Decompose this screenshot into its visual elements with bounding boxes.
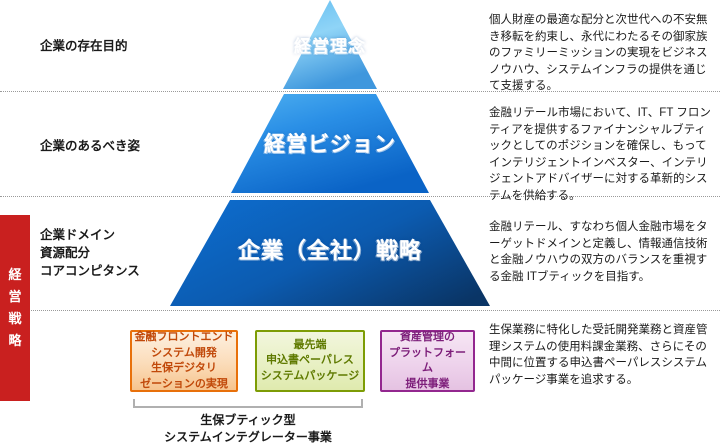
pyramid-tier-philosophy: 経営理念 (165, 0, 495, 89)
pyramid-tier-corporate-strategy: 企業（全社）戦略 (165, 200, 495, 306)
description-vision: 金融リテール市場において、IT、FT フロンティアを提供するファイナンシャルブテ… (489, 105, 713, 205)
vertical-band-char-1: 経 (8, 264, 21, 286)
business-box-financial-frontend[interactable]: 金融フロントエンド システム開発 生保デジタリ ゼーションの実現 (130, 330, 238, 392)
description-corporate-strategy: 金融リテール、すなわち個人金融市場をターゲットドメインと定義し、情報通信技術と金… (489, 219, 713, 285)
pyramid-tier-2-label: 経営ビジョン (165, 128, 495, 158)
business-box-1-line-4: ゼーションの実現 (140, 377, 228, 393)
business-box-1-line-2: システム開発 (151, 346, 217, 362)
description-businesses: 生保業務に特化した受託開発業務と資産管理システムの使用料課金業務、さらにその中間… (489, 322, 713, 388)
business-box-3-line-3: 提供事業 (406, 377, 450, 393)
business-box-1-line-3: 生保デジタリ (151, 361, 217, 377)
description-purpose: 個人財産の最適な配分と次世代への不安無き移転を約束し、永代にわたるその御家族のフ… (489, 12, 713, 95)
strategy-pyramid: 経営理念 経営ビジョン (165, 0, 495, 310)
row-label-vision-state-text: 企業のあるべき姿 (40, 139, 140, 153)
business-box-2-line-3: システムパッケージ (261, 369, 359, 385)
bottom-caption: 生保ブティック型 システムインテグレーター事業 (103, 412, 393, 446)
business-box-3-line-1: 資産管理の (400, 330, 455, 346)
vertical-band-management-strategy: 経 営 戦 略 (0, 215, 30, 401)
vertical-band-char-3: 戦 (8, 308, 21, 330)
bottom-caption-line-2: システムインテグレーター事業 (103, 429, 393, 446)
business-box-paperless-package[interactable]: 最先端 申込書ペーパレス システムパッケージ (255, 330, 365, 392)
business-box-2-line-2: 申込書ペーパレス (266, 353, 354, 369)
grouping-bracket (133, 399, 363, 408)
business-box-2-line-1: 最先端 (294, 338, 327, 354)
pyramid-tier-3-label: 企業（全社）戦略 (165, 233, 495, 265)
diagram-canvas: 経 営 戦 略 企業の存在目的 企業のあるべき姿 企業ドメイン 資源配分 コアコ… (0, 0, 720, 446)
business-box-1-line-1: 金融フロントエンド (135, 330, 234, 346)
pyramid-tier-1-label: 経営理念 (165, 32, 495, 57)
business-box-3-line-2: プラットフォーム (384, 346, 471, 377)
pyramid-tier-vision: 経営ビジョン (165, 94, 495, 193)
row-separator-3 (0, 310, 720, 311)
bottom-caption-line-1: 生保ブティック型 (103, 412, 393, 429)
vertical-band-char-2: 営 (8, 286, 21, 308)
business-box-asset-management-platform[interactable]: 資産管理の プラットフォーム 提供事業 (380, 330, 475, 392)
vertical-band-char-4: 略 (8, 330, 21, 352)
